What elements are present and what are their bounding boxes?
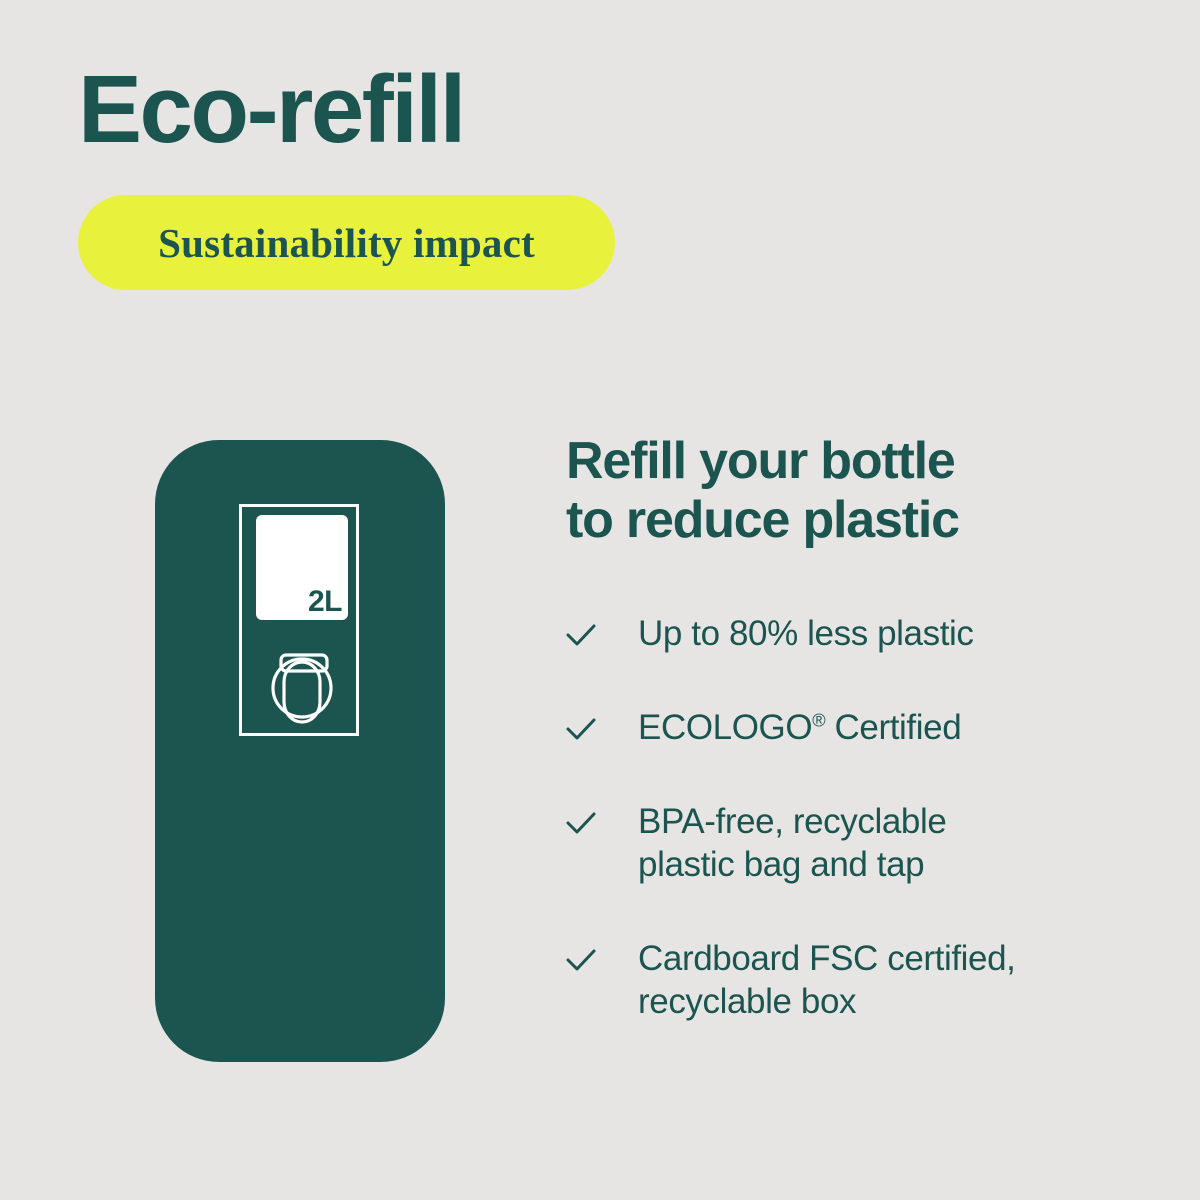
feature-list: Up to 80% less plastic ECOLOGO® Certifie… (566, 612, 1096, 1024)
feature-line-2: plastic bag and tap (638, 843, 946, 886)
registered-trademark-mark: ® (812, 710, 825, 730)
list-item: Up to 80% less plastic (566, 612, 1096, 656)
list-item: ECOLOGO® Certified (566, 706, 1096, 750)
headline-line-1: Refill your bottle (566, 432, 1086, 491)
check-icon (566, 946, 596, 976)
feature-text: Cardboard FSC certified, recyclable box (638, 937, 1016, 1024)
status-badge: Sustainability impact (78, 195, 615, 290)
feature-line-1-tail: Certified (825, 708, 961, 747)
headline: Refill your bottle to reduce plastic (566, 432, 1086, 550)
refill-pouch: 2L (256, 515, 348, 620)
list-item: Cardboard FSC certified, recyclable box (566, 937, 1096, 1024)
list-item: BPA-free, recyclable plastic bag and tap (566, 800, 1096, 887)
feature-line-1: Cardboard FSC certified, (638, 937, 1016, 980)
check-icon (566, 809, 596, 839)
feature-line-2: recyclable box (638, 980, 1016, 1023)
feature-line-1: ECOLOGO (638, 708, 812, 747)
feature-line-1: Up to 80% less plastic (638, 614, 974, 653)
headline-line-2: to reduce plastic (566, 491, 1086, 550)
eco-refill-infographic: Eco-refill Sustainability impact 2L (0, 0, 1200, 1200)
page-title: Eco-refill (78, 62, 464, 158)
product-illustration-panel: 2L (155, 440, 445, 1062)
feature-text: Up to 80% less plastic (638, 612, 974, 655)
check-icon (566, 621, 596, 651)
check-icon (566, 715, 596, 745)
feature-text: ECOLOGO® Certified (638, 706, 961, 749)
pouch-volume-label: 2L (308, 587, 342, 617)
status-badge-label: Sustainability impact (158, 219, 535, 267)
feature-text: BPA-free, recyclable plastic bag and tap (638, 800, 946, 887)
feature-line-1: BPA-free, recyclable (638, 800, 946, 843)
tap-icon (255, 635, 349, 725)
